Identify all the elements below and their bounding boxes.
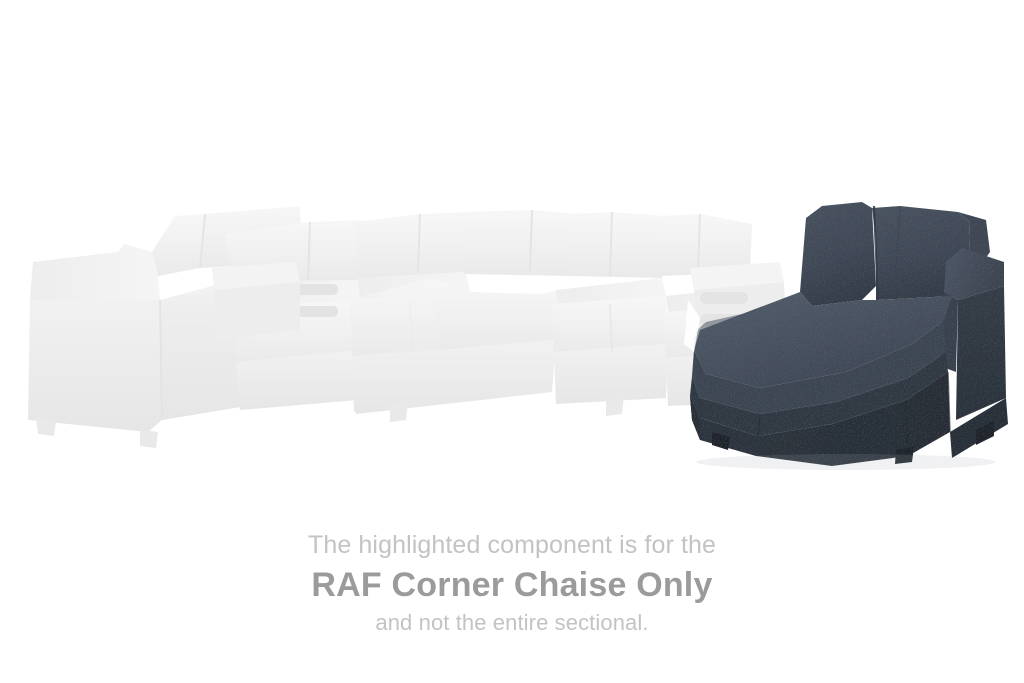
caption-block: The highlighted component is for the RAF…: [0, 528, 1024, 638]
sectional-sofa-illustration: [0, 0, 1024, 500]
product-image-canvas: The highlighted component is for the RAF…: [0, 0, 1024, 683]
ghost-armless-chair-3: [552, 212, 668, 416]
caption-line-2-component-name: RAF Corner Chaise Only: [0, 562, 1024, 608]
ghosted-sectional-group: [28, 206, 786, 448]
chaise-arm-outer: [956, 286, 1006, 420]
caption-line-3: and not the entire sectional.: [0, 608, 1024, 638]
caption-line-1: The highlighted component is for the: [0, 528, 1024, 562]
chaise-back-cushion-left: [800, 202, 876, 306]
ghost-console: [212, 262, 300, 340]
